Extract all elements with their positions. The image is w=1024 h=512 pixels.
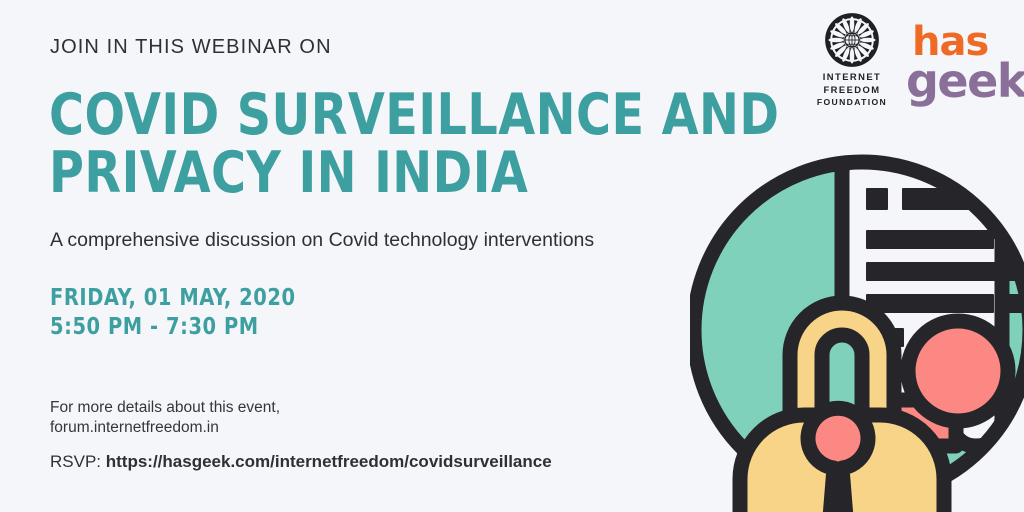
details-link[interactable]: forum.internetfreedom.in (50, 418, 280, 438)
logo-group: INTERNET FREEDOM FOUNDATION has geek (794, 0, 1024, 120)
privacy-illustration (690, 150, 1024, 512)
event-date: FRIDAY, 01 MAY, 2020 (50, 284, 296, 313)
event-time: 5:50 PM - 7:30 PM (50, 313, 296, 342)
page-title-line-1: COVID SURVEILLANCE AND (49, 86, 644, 144)
iff-wordmark: INTERNET FREEDOM FOUNDATION (806, 71, 898, 109)
rsvp-line: RSVP: https://hasgeek.com/internetfreedo… (50, 452, 552, 472)
iff-word-line-1: INTERNET (806, 71, 898, 84)
page-title-line-2: PRIVACY IN INDIA (49, 144, 644, 202)
iff-word-line-3: FOUNDATION (806, 96, 898, 109)
document-padlock-icon (690, 150, 1024, 512)
kicker-text: JOIN IN THIS WEBINAR ON (50, 36, 332, 59)
page-title: COVID SURVEILLANCE AND PRIVACY IN INDIA (49, 86, 644, 202)
internet-freedom-foundation-logo[interactable]: INTERNET FREEDOM FOUNDATION (806, 12, 898, 109)
event-datetime: FRIDAY, 01 MAY, 2020 5:50 PM - 7:30 PM (50, 284, 296, 342)
event-details: For more details about this event, forum… (50, 398, 280, 438)
hasgeek-logo[interactable]: has geek (906, 26, 1016, 100)
details-line-1: For more details about this event, (50, 398, 280, 418)
subtitle-text: A comprehensive discussion on Covid tech… (50, 229, 594, 252)
iff-word-line-2: FREEDOM (806, 84, 898, 97)
hasgeek-geek-text: geek (906, 62, 1016, 101)
rsvp-label: RSVP: (50, 452, 106, 471)
rsvp-link[interactable]: https://hasgeek.com/internetfreedom/covi… (106, 452, 552, 471)
webinar-poster: JOIN IN THIS WEBINAR ON COVID SURVEILLAN… (0, 0, 1024, 512)
chakra-globe-icon (824, 12, 880, 68)
